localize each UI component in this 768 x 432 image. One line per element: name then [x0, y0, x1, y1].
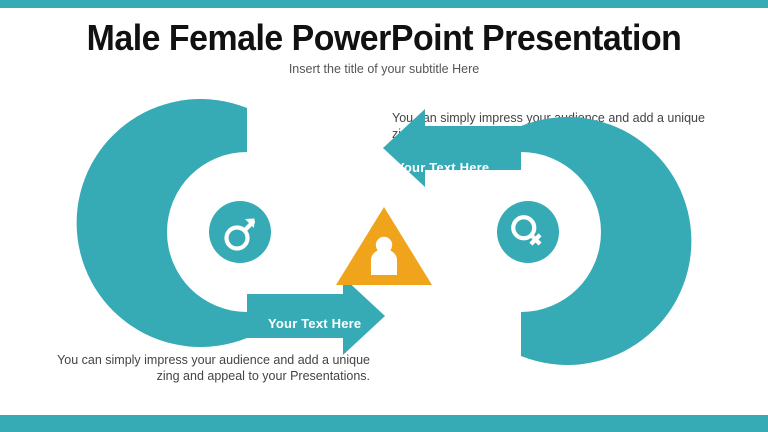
diagram-svg — [0, 95, 768, 365]
center-triangle-group[interactable] — [336, 207, 432, 285]
cycle-diagram — [0, 95, 768, 365]
bottom-accent-bar — [0, 415, 768, 432]
arrow-label-bottom: Your Text Here — [268, 316, 361, 331]
female-inner-teal-disc — [497, 201, 559, 263]
page-title: Male Female PowerPoint Presentation — [23, 17, 745, 59]
arrow-label-top: Your Text Here — [396, 160, 489, 175]
top-accent-bar — [0, 0, 768, 8]
page-subtitle: Insert the title of your subtitle Here — [0, 62, 768, 76]
male-inner-teal-disc — [209, 201, 271, 263]
slide-canvas: Male Female PowerPoint Presentation Inse… — [0, 0, 768, 432]
female-node-group[interactable] — [383, 109, 691, 365]
